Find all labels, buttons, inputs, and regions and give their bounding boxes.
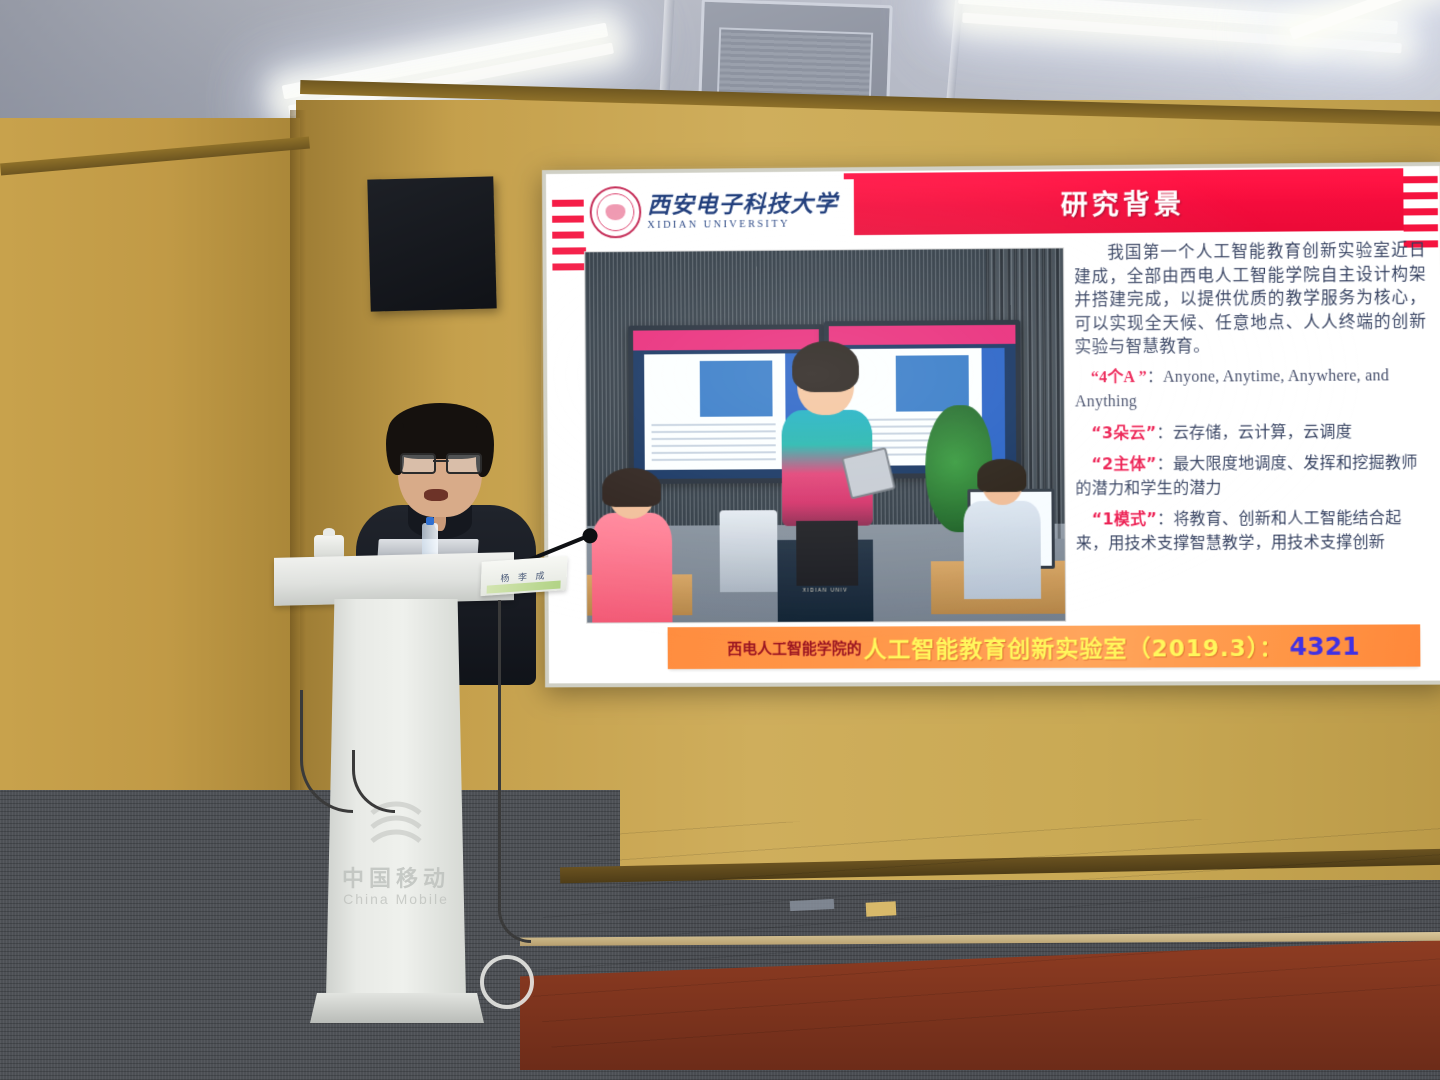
banner-number: 4321	[1290, 631, 1360, 660]
slide-paragraph: 我国第一个人工智能教育创新实验室近日建成，全部由西电人工智能学院自主设计构架并搭…	[1074, 238, 1427, 359]
slide-bottom-banner: 西电人工智能学院的 人工智能教育创新实验室（2019.3）： 4321	[668, 624, 1421, 669]
slide-bullet-1mode: “1模式”：将教育、创新和人工智能结合起来，用技术支撑智慧教学，用技术支撑创新	[1076, 506, 1428, 556]
university-logo: 西安电子科技大学 XIDIAN UNIVERSITY	[584, 179, 855, 243]
slide-header: 研究背景 西安电子科技大学 XIDIAN UNIVERSITY	[546, 166, 1440, 249]
photo-student-left	[591, 474, 673, 623]
banner-main: 人工智能教育创新实验室（2019.3）：	[864, 629, 1284, 665]
banner-prefix: 西电人工智能学院的	[727, 637, 861, 658]
projection-screen: 研究背景 西安电子科技大学 XIDIAN UNIVERSITY	[542, 162, 1440, 688]
presentation-room-photo: 研究背景 西安电子科技大学 XIDIAN UNIVERSITY	[0, 0, 1440, 1080]
presenter-mouth	[424, 489, 448, 501]
nameplate-text: 杨 李 成	[500, 568, 547, 584]
photo-podium-logo-en: XIDIAN UNIV	[803, 587, 848, 593]
slide-canvas: 研究背景 西安电子科技大学 XIDIAN UNIVERSITY	[546, 166, 1440, 683]
photo-student-right	[963, 464, 1041, 598]
slide-body-text: 我国第一个人工智能教育创新实验室近日建成，全部由西电人工智能学院自主设计构架并搭…	[1074, 238, 1428, 555]
water-bottle	[422, 523, 438, 557]
classroom-photo: 西安电子 XIDIAN UNIV	[584, 247, 1066, 623]
slide-bullet-4a: “4个A ”：Anyone, Anytime, Anywhere, and An…	[1075, 364, 1427, 414]
slide-bullet-3cloud: “3朵云”：云存储，云计算，云调度	[1075, 419, 1427, 445]
podium-base	[310, 993, 484, 1023]
photo-lectern-chair	[720, 511, 778, 593]
slide-bullet-2subject: “2主体”：最大限度地调度、发挥和挖掘教师的潜力和学生的潜力	[1075, 450, 1427, 500]
slide-title-bar: 研究背景	[844, 168, 1404, 235]
university-name-cn: 西安电子科技大学	[647, 192, 838, 217]
slide-title: 研究背景	[844, 168, 1404, 235]
photo-instructor	[781, 350, 873, 581]
podium-top-surface	[274, 552, 514, 606]
glasses-icon	[400, 453, 482, 471]
wall-mounted-speaker-panel	[367, 176, 496, 311]
floor-cable	[498, 600, 531, 943]
podium-brand-en: China Mobile	[343, 891, 449, 907]
university-seal-icon	[590, 186, 642, 238]
stage-floor-block	[866, 901, 897, 917]
podium-brand-cn: 中国移动	[342, 861, 450, 893]
presenter-nameplate: 杨 李 成	[481, 556, 568, 596]
university-name-en: XIDIAN UNIVERSITY	[647, 218, 838, 231]
